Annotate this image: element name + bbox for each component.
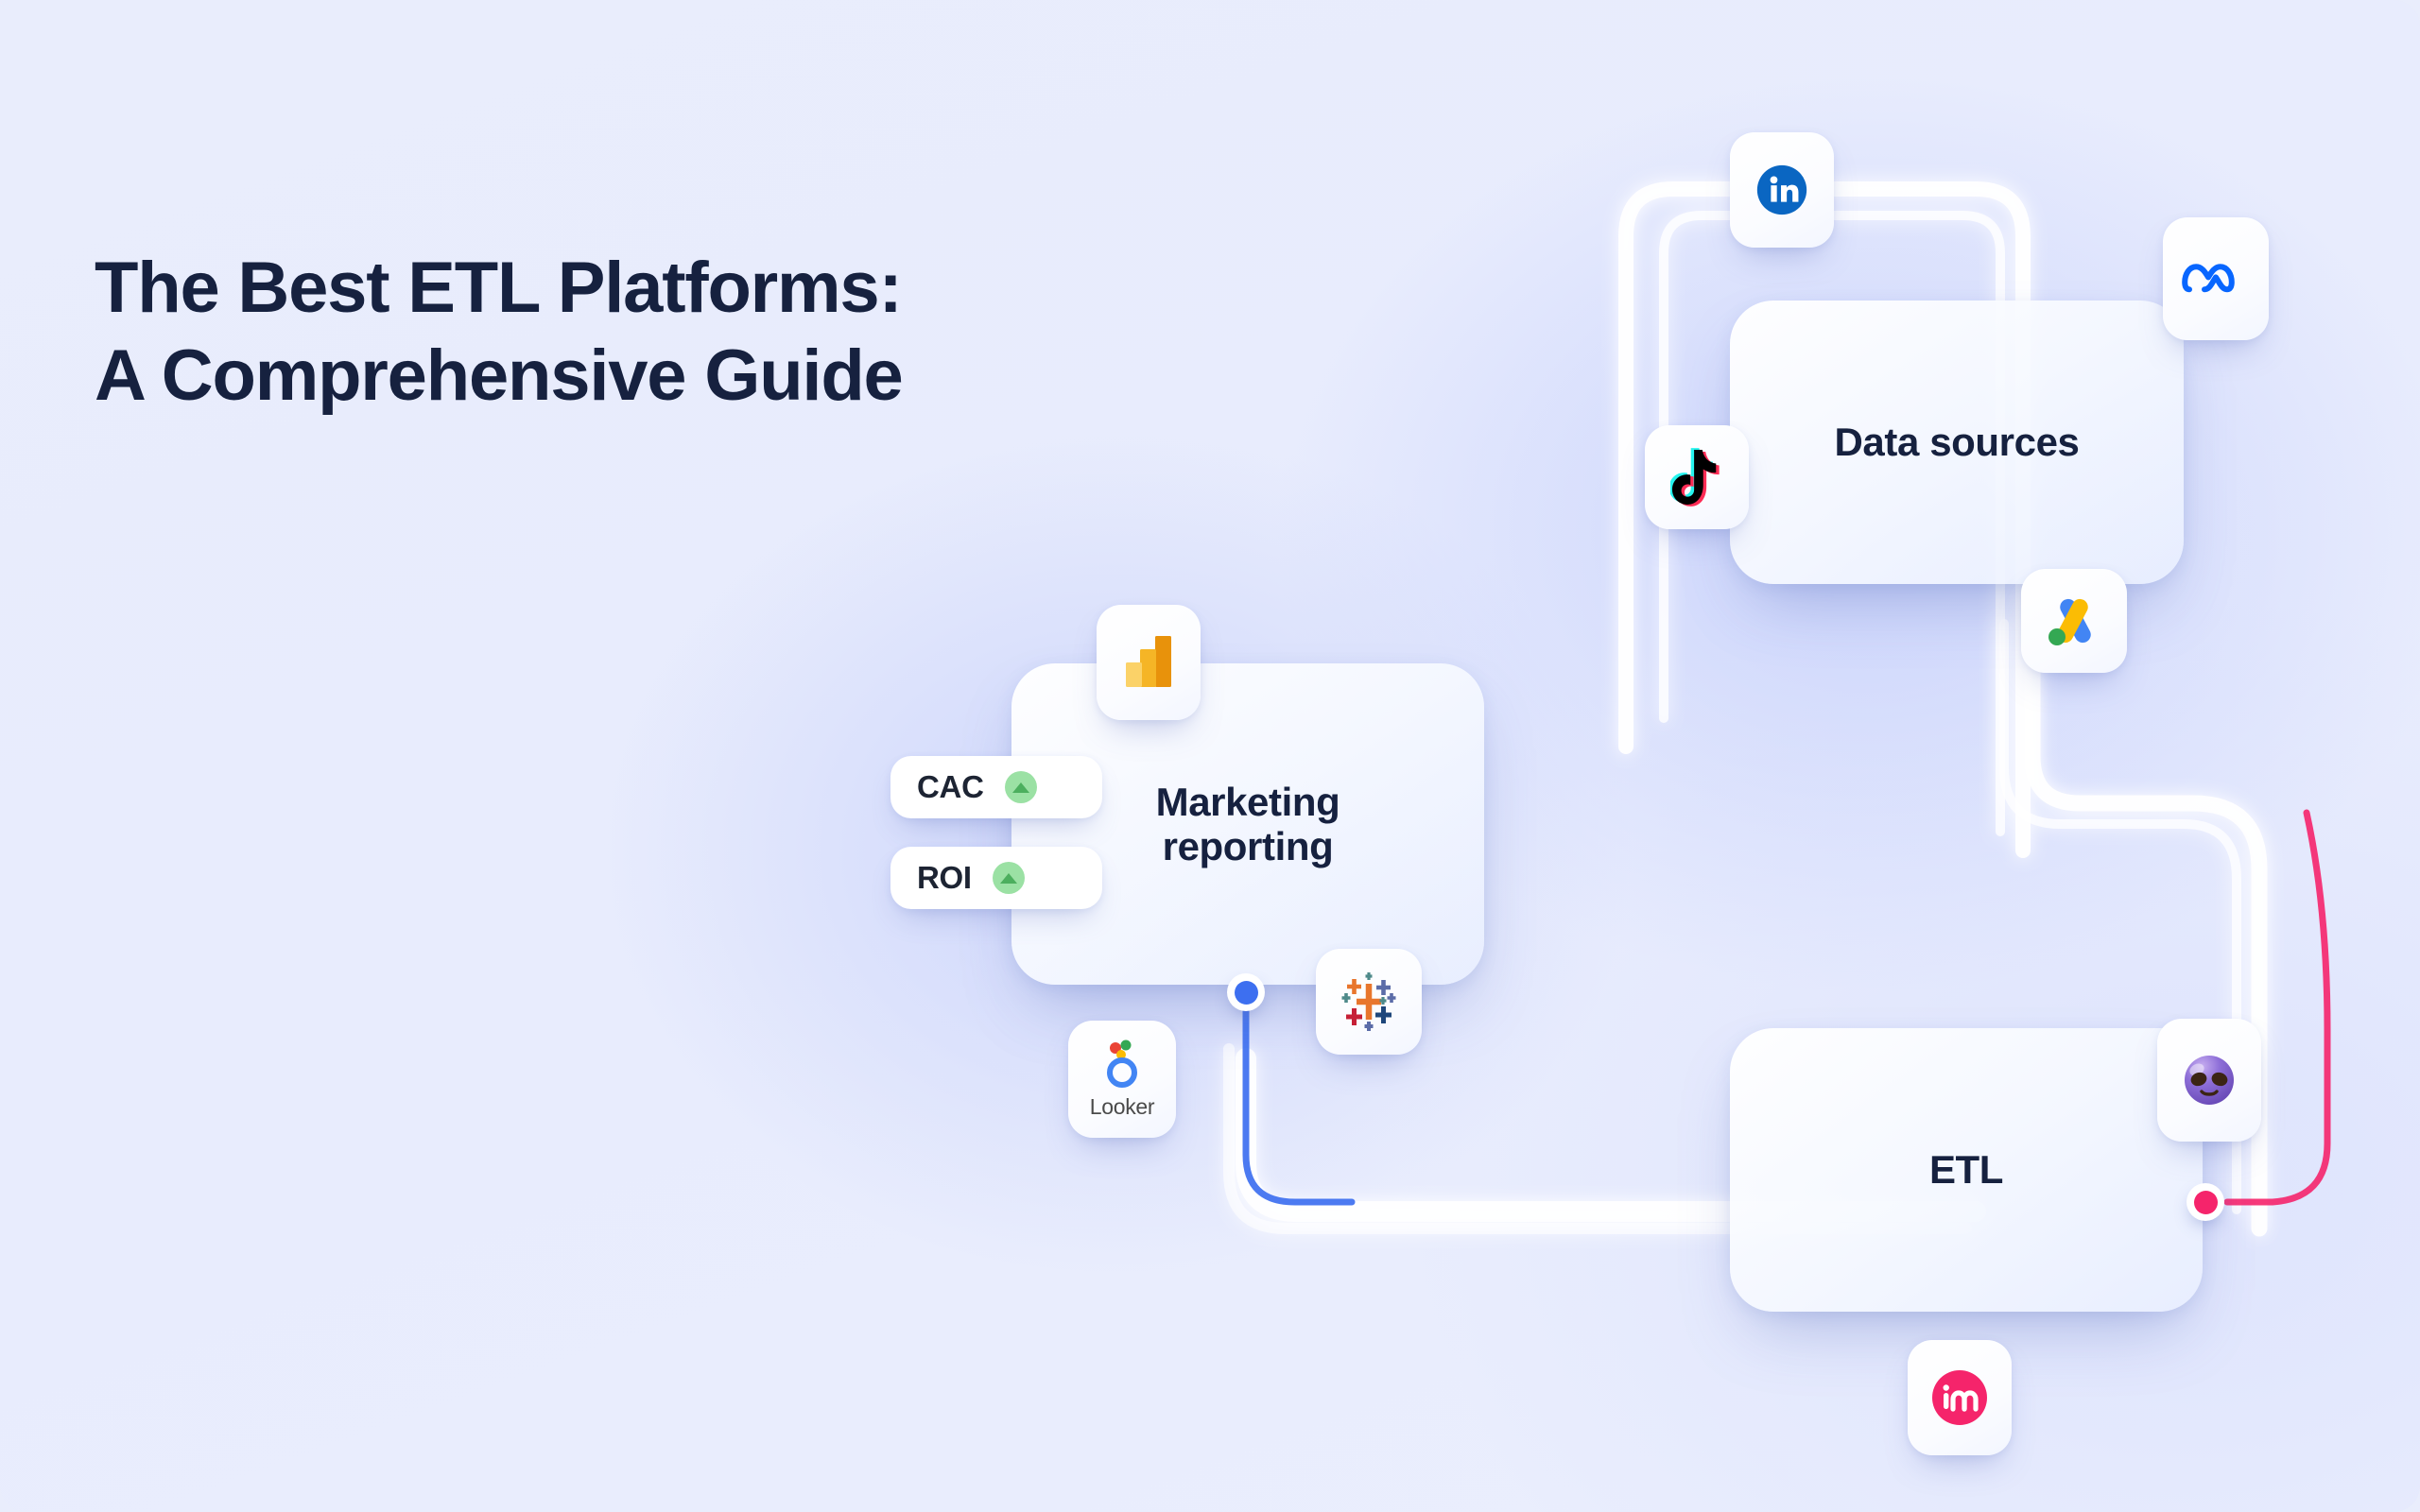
tile-google-ads[interactable]: [2021, 569, 2127, 673]
metric-badge-roi-label: ROI: [917, 860, 972, 896]
card-etl[interactable]: ETL: [1730, 1028, 2203, 1312]
tile-meta[interactable]: [2163, 217, 2269, 340]
meta-icon: [2182, 254, 2250, 303]
metric-badge-cac[interactable]: CAC: [890, 756, 1102, 818]
trend-up-icon: [993, 862, 1025, 894]
looker-icon: [1098, 1039, 1146, 1091]
alien-icon: [2179, 1053, 2239, 1108]
metric-badge-cac-label: CAC: [917, 769, 984, 805]
tiktok-icon: [1670, 448, 1723, 507]
tile-linkedin[interactable]: [1730, 132, 1834, 248]
connector-dot-pink[interactable]: [2187, 1183, 2224, 1221]
trend-up-icon: [1005, 771, 1037, 803]
tile-tiktok[interactable]: [1645, 425, 1749, 529]
tile-looker[interactable]: Looker: [1068, 1021, 1176, 1138]
card-data-sources-label: Data sources: [1835, 420, 2080, 464]
card-marketing-reporting-label: Marketing reporting: [1156, 780, 1340, 868]
illustration-canvas: The Best ETL Platforms: A Comprehensive …: [0, 0, 2420, 1512]
tableau-icon: [1338, 971, 1400, 1033]
metric-badge-roi[interactable]: ROI: [890, 847, 1102, 909]
linkedin-icon: [1753, 161, 1811, 219]
tile-improvado[interactable]: [1908, 1340, 2012, 1455]
tile-looker-label: Looker: [1090, 1094, 1155, 1120]
power-bi-icon: [1122, 632, 1175, 693]
google-ads-icon: [2043, 593, 2105, 648]
connector-dot-pink-core: [2194, 1191, 2218, 1214]
card-marketing-reporting[interactable]: Marketing reporting: [1011, 663, 1484, 985]
card-etl-label: ETL: [1929, 1147, 2003, 1192]
connector-dot-blue-core: [1235, 981, 1258, 1005]
tile-fivetran[interactable]: [2157, 1019, 2261, 1142]
improvado-icon: [1930, 1368, 1989, 1427]
tile-power-bi[interactable]: [1097, 605, 1201, 720]
card-data-sources[interactable]: Data sources: [1730, 301, 2184, 584]
connector-dot-blue[interactable]: [1227, 973, 1265, 1011]
tile-tableau[interactable]: [1316, 949, 1422, 1055]
